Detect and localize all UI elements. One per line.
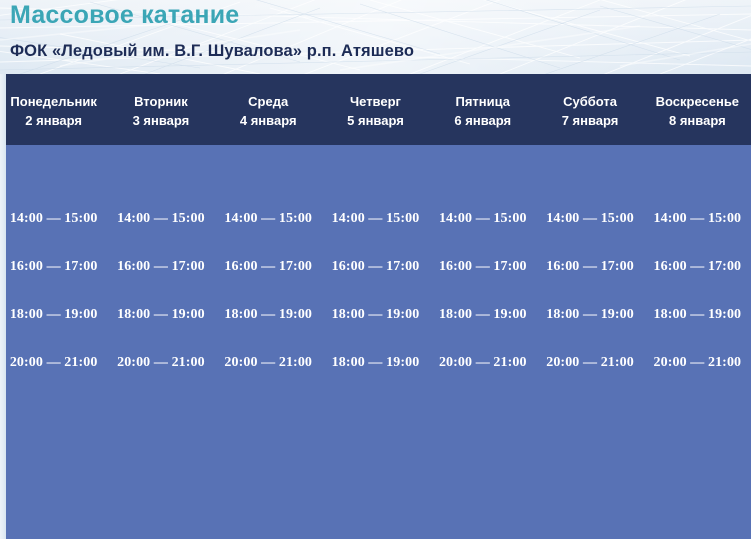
day-name-label: Воскресенье [656,92,739,111]
time-slot: 16:00 — 17:00 [644,243,751,291]
time-slot: 18:00 — 19:00 [322,291,429,339]
day-name-label: Понедельник [10,92,96,111]
time-slot: 16:00 — 17:00 [215,243,322,291]
slot-row: 18:00 — 19:00 18:00 — 19:00 18:00 — 19:0… [0,291,751,339]
time-slot: 18:00 — 19:00 [644,291,751,339]
time-slot: 20:00 — 21:00 [0,339,107,387]
time-slot: 16:00 — 17:00 [0,243,107,291]
day-name-label: Суббота [563,92,617,111]
day-date-label: 2 января [25,111,82,130]
time-slot: 14:00 — 15:00 [429,195,536,243]
slot-row: 16:00 — 17:00 16:00 — 17:00 16:00 — 17:0… [0,243,751,291]
day-header-sunday: Воскресенье 8 января [644,74,751,145]
schedule-body: 14:00 — 15:00 14:00 — 15:00 14:00 — 15:0… [0,145,751,539]
time-slot-grid: 14:00 — 15:00 14:00 — 15:00 14:00 — 15:0… [0,145,751,387]
time-slot: 18:00 — 19:00 [0,291,107,339]
time-slot: 14:00 — 15:00 [536,195,643,243]
time-slot: 16:00 — 17:00 [536,243,643,291]
day-header-wednesday: Среда 4 января [215,74,322,145]
day-header-band: Понедельник 2 января Вторник 3 января Ср… [0,74,751,145]
time-slot: 20:00 — 21:00 [536,339,643,387]
time-slot: 20:00 — 21:00 [107,339,214,387]
day-name-label: Вторник [134,92,188,111]
time-slot: 20:00 — 21:00 [644,339,751,387]
time-slot: 16:00 — 17:00 [322,243,429,291]
day-header-tuesday: Вторник 3 января [107,74,214,145]
left-edge-strip [0,74,6,539]
day-name-label: Среда [248,92,288,111]
day-date-label: 8 января [669,111,726,130]
ice-texture-header: Массовое катание ФОК «Ледовый им. В.Г. Ш… [0,0,751,74]
time-slot: 14:00 — 15:00 [0,195,107,243]
time-slot: 20:00 — 21:00 [429,339,536,387]
day-date-label: 6 января [454,111,511,130]
time-slot: 16:00 — 17:00 [107,243,214,291]
time-slot: 18:00 — 19:00 [429,291,536,339]
time-slot: 14:00 — 15:00 [107,195,214,243]
page-title: Массовое катание [10,0,239,31]
venue-subtitle: ФОК «Ледовый им. В.Г. Шувалова» р.п. Атя… [10,40,414,62]
time-slot: 14:00 — 15:00 [322,195,429,243]
day-date-label: 7 января [562,111,619,130]
slot-row: 20:00 — 21:00 20:00 — 21:00 20:00 — 21:0… [0,339,751,387]
day-header-monday: Понедельник 2 января [0,74,107,145]
time-slot: 18:00 — 19:00 [215,291,322,339]
day-header-friday: Пятница 6 января [429,74,536,145]
time-slot: 18:00 — 19:00 [107,291,214,339]
time-slot: 14:00 — 15:00 [644,195,751,243]
time-slot: 18:00 — 19:00 [322,339,429,387]
day-date-label: 3 января [133,111,190,130]
day-name-label: Четверг [350,92,401,111]
day-header-thursday: Четверг 5 января [322,74,429,145]
day-name-label: Пятница [456,92,511,111]
day-date-label: 5 января [347,111,404,130]
time-slot: 14:00 — 15:00 [215,195,322,243]
day-header-saturday: Суббота 7 января [536,74,643,145]
time-slot: 20:00 — 21:00 [215,339,322,387]
day-date-label: 4 января [240,111,297,130]
schedule-poster: Массовое катание ФОК «Ледовый им. В.Г. Ш… [0,0,751,539]
slot-row: 14:00 — 15:00 14:00 — 15:00 14:00 — 15:0… [0,195,751,243]
time-slot: 18:00 — 19:00 [536,291,643,339]
time-slot: 16:00 — 17:00 [429,243,536,291]
